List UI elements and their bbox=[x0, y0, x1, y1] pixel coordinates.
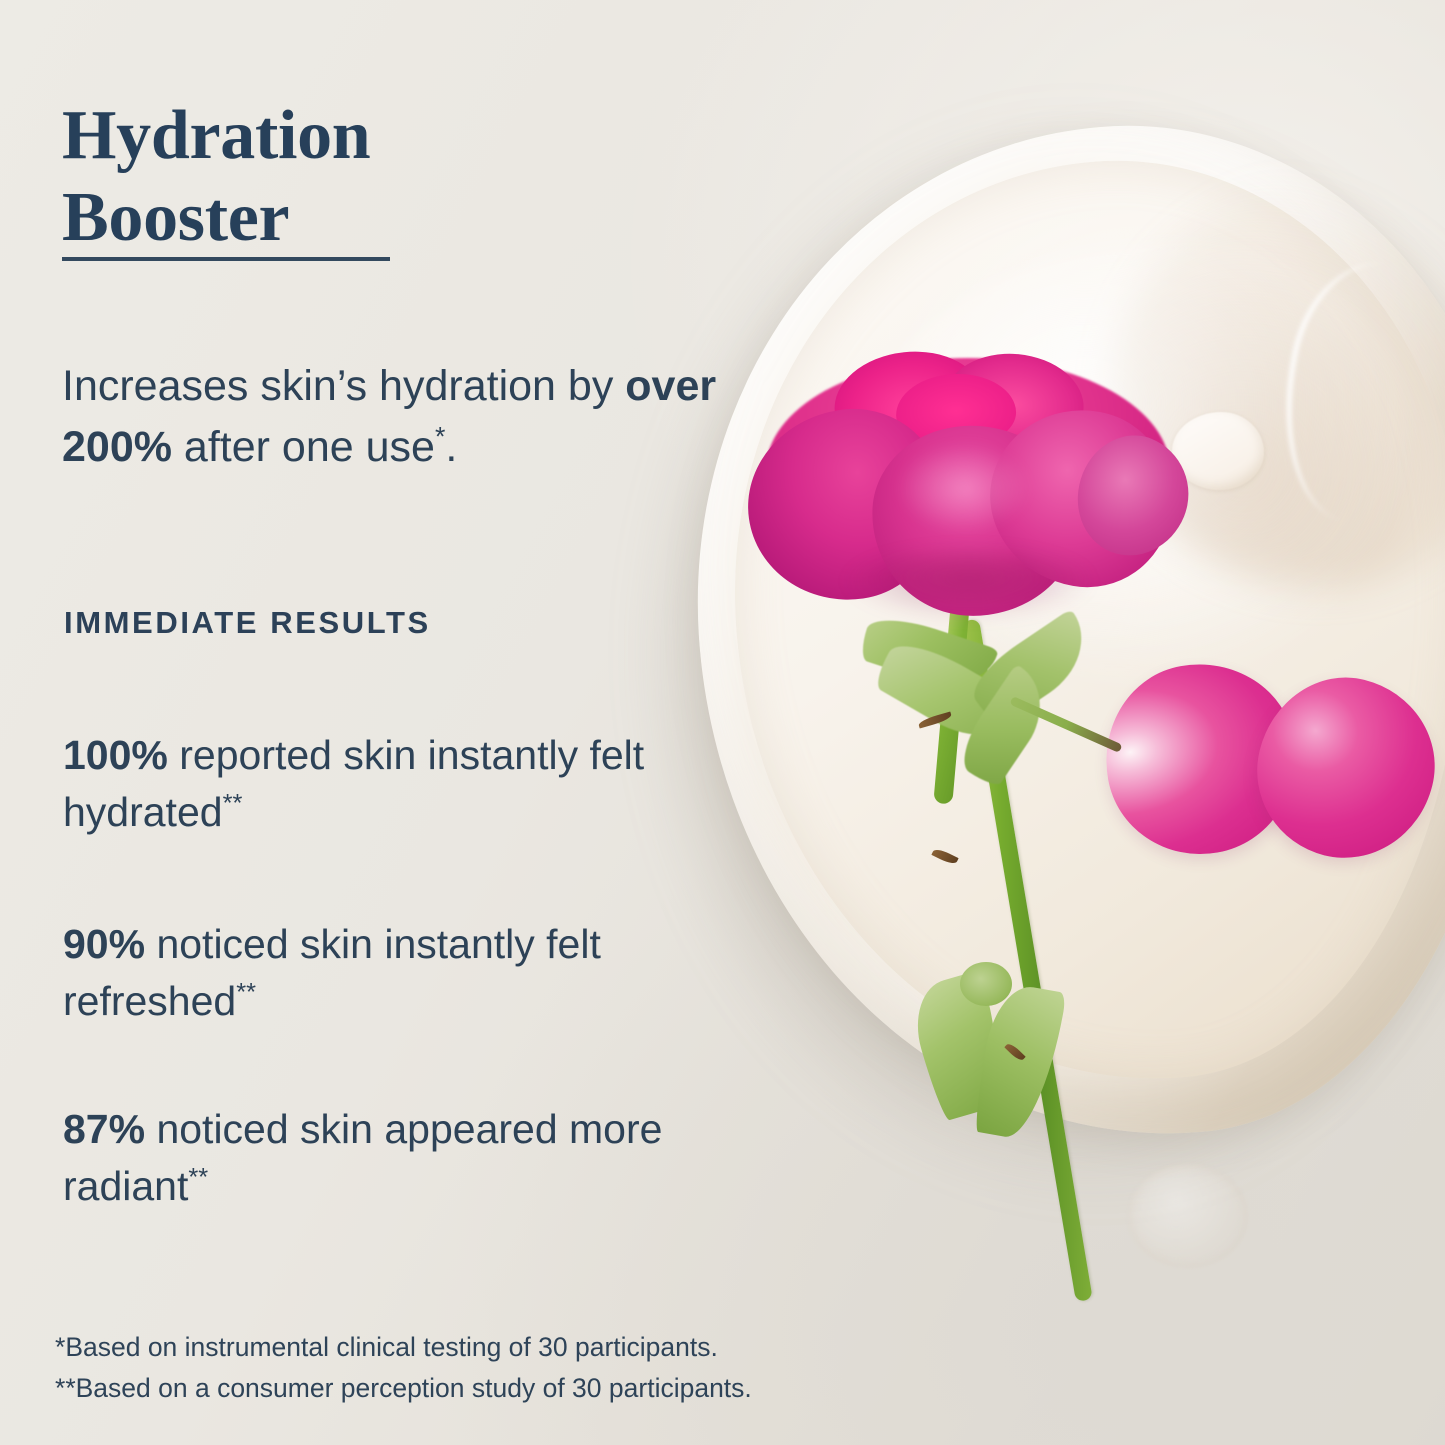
result-stat-2: 90% noticed skin instantly felt refreshe… bbox=[63, 916, 743, 1029]
claim-footnote-marker: * bbox=[435, 422, 445, 452]
title-line-2: Booster bbox=[62, 179, 289, 256]
footnote-double-star: **Based on a consumer perception study o… bbox=[55, 1368, 1055, 1409]
footnotes: *Based on instrumental clinical testing … bbox=[55, 1327, 1055, 1410]
hydration-claim: Increases skin’s hydration by over 200% … bbox=[62, 356, 762, 478]
result-stat-2-marker: ** bbox=[236, 978, 256, 1006]
result-stat-1-marker: ** bbox=[223, 789, 243, 817]
result-stat-3-value: 87% bbox=[63, 1106, 145, 1152]
claim-period: . bbox=[445, 423, 457, 471]
result-stat-3-text: noticed skin appeared more radiant bbox=[63, 1106, 662, 1209]
result-stat-1: 100% reported skin instantly felt hydrat… bbox=[63, 727, 743, 840]
result-stat-2-value: 90% bbox=[63, 921, 145, 967]
claim-prefix: Increases skin’s hydration by bbox=[62, 362, 625, 410]
result-stat-3: 87% noticed skin appeared more radiant** bbox=[63, 1101, 743, 1214]
text-content: HydrationBooster Increases skin’s hydrat… bbox=[0, 0, 1445, 1445]
claim-suffix: after one use bbox=[172, 423, 435, 471]
page-title: HydrationBooster bbox=[62, 95, 622, 259]
title-line-1: Hydration bbox=[62, 97, 370, 174]
immediate-results-heading: IMMEDIATE RESULTS bbox=[64, 605, 431, 641]
title-divider-rule bbox=[62, 257, 390, 261]
result-stat-1-value: 100% bbox=[63, 732, 168, 778]
result-stat-3-marker: ** bbox=[188, 1163, 208, 1191]
footnote-single-star: *Based on instrumental clinical testing … bbox=[55, 1327, 1055, 1368]
product-benefit-card: HydrationBooster Increases skin’s hydrat… bbox=[0, 0, 1445, 1445]
